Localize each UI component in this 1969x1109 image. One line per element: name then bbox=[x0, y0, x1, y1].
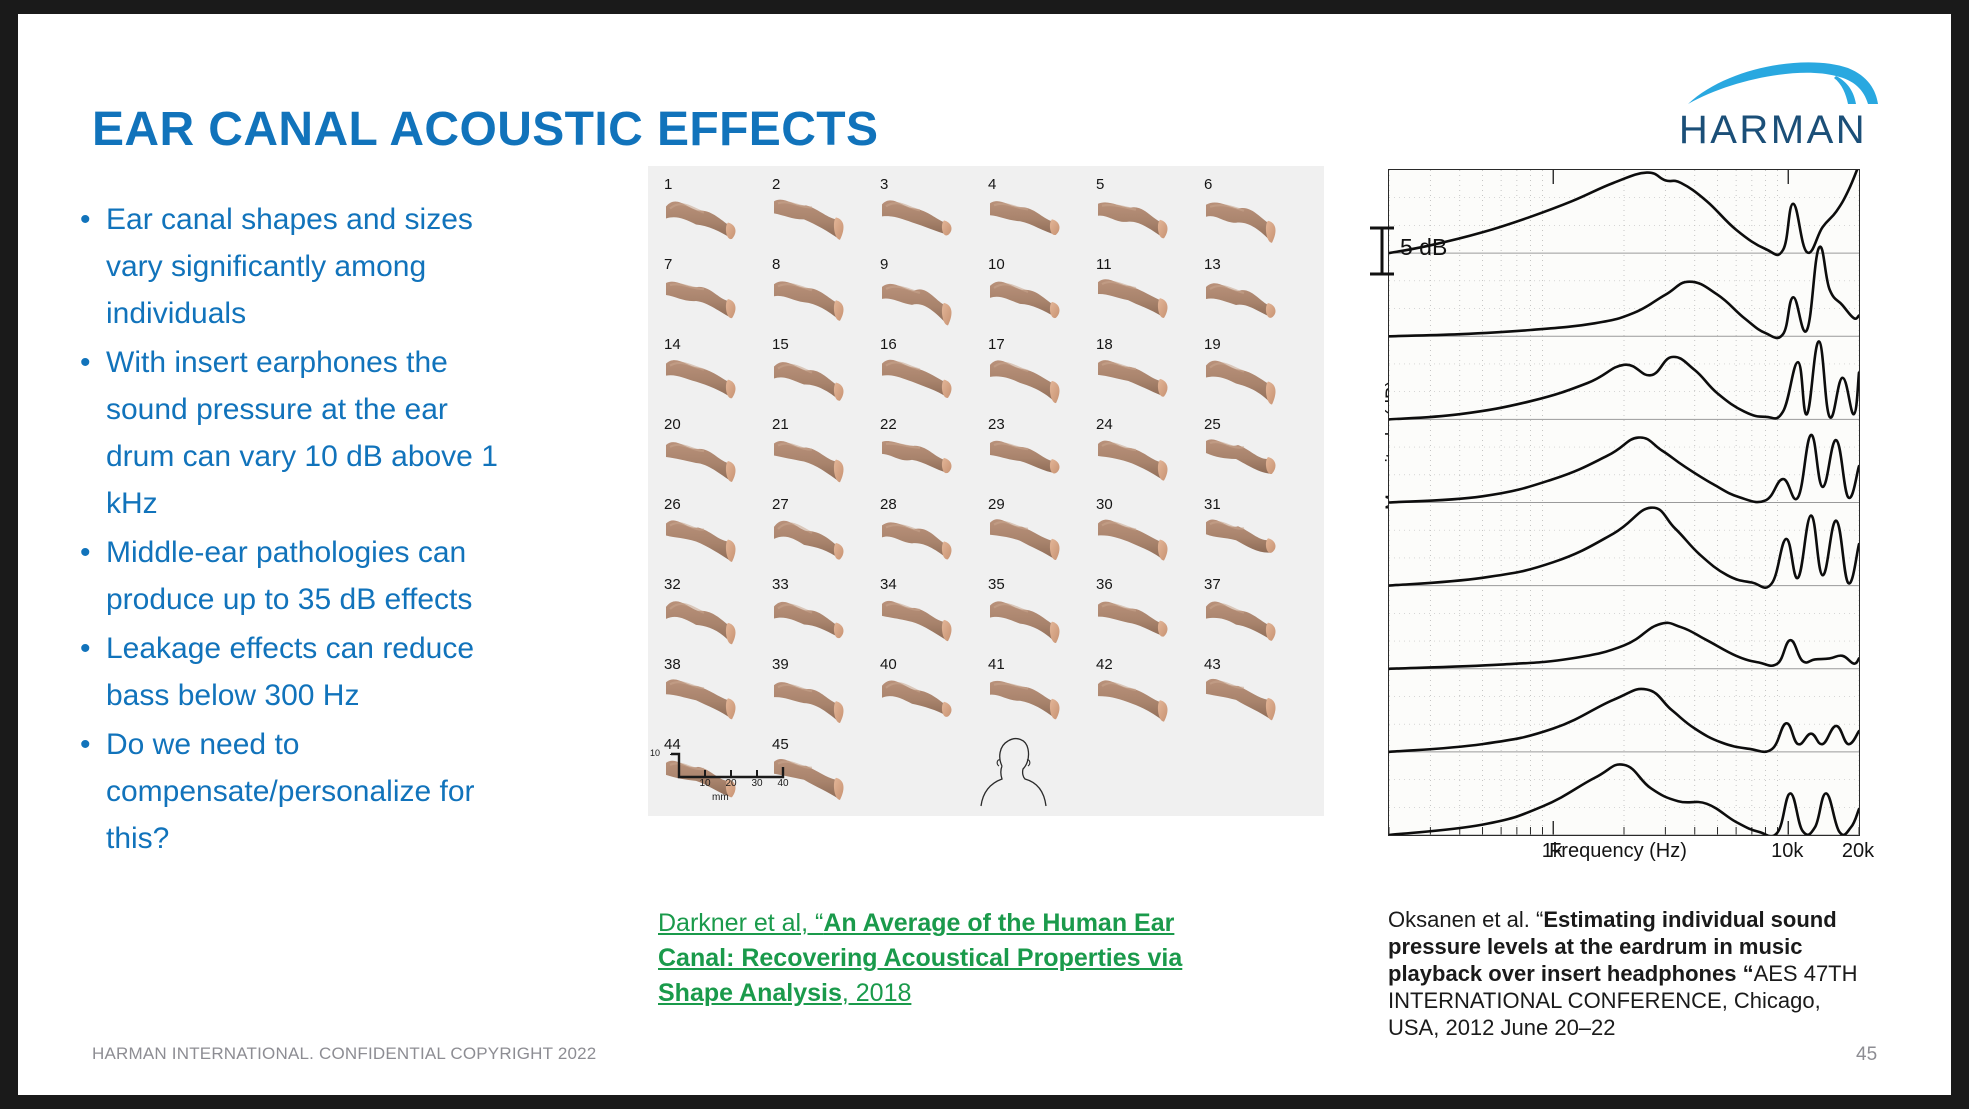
ear-canal-number: 33 bbox=[772, 576, 789, 593]
ear-canal-item: 21 bbox=[766, 416, 874, 496]
bullet-text: Middle-ear pathologies can produce up to… bbox=[106, 536, 472, 616]
bullet-text: Do we need to compensate/personalize for… bbox=[106, 728, 475, 855]
ear-canal-number: 9 bbox=[880, 256, 888, 273]
ear-canal-item: 28 bbox=[874, 496, 982, 576]
ear-canal-shape-icon bbox=[986, 192, 1082, 252]
ear-canal-shape-icon bbox=[986, 512, 1082, 572]
ear-canal-shape-icon bbox=[1094, 672, 1190, 732]
ear-canal-item: 16 bbox=[874, 336, 982, 416]
ear-canal-number: 34 bbox=[880, 576, 897, 593]
chart-x-tick-20k: 20k bbox=[1842, 840, 1874, 863]
harman-logo: HARMAN bbox=[1658, 52, 1888, 152]
ear-canal-item: 18 bbox=[1090, 336, 1198, 416]
bullet-item: • With insert earphones the sound pressu… bbox=[54, 339, 524, 527]
bullet-text: With insert earphones the sound pressure… bbox=[106, 346, 498, 520]
scale-bar: 10 10 20 30 40 mm bbox=[670, 752, 790, 806]
ear-canal-item: 25 bbox=[1198, 416, 1306, 496]
head-silhouette-icon bbox=[978, 736, 1048, 808]
ear-canal-item: 6 bbox=[1198, 176, 1306, 256]
ear-canal-item: 13 bbox=[1198, 256, 1306, 336]
ear-canal-number: 27 bbox=[772, 496, 789, 513]
scale-bar-x-label: 30 bbox=[751, 778, 762, 789]
chart-x-tick-10k: 10k bbox=[1771, 840, 1803, 863]
ear-canal-number: 32 bbox=[664, 576, 681, 593]
scale-bar-x-label: 20 bbox=[725, 778, 736, 789]
ear-canal-item: 8 bbox=[766, 256, 874, 336]
ear-canal-shape-icon bbox=[986, 592, 1082, 652]
ear-canal-item: 5 bbox=[1090, 176, 1198, 256]
ear-canal-number: 25 bbox=[1204, 416, 1221, 433]
frequency-response-chart: Magnitude (dB) 5 dB 1k Frequency (Hz) 10… bbox=[1348, 164, 1888, 874]
ear-canal-number: 35 bbox=[988, 576, 1005, 593]
ear-canal-number: 16 bbox=[880, 336, 897, 353]
scale-bar-x-label: 10 bbox=[699, 778, 710, 789]
ear-canal-shape-icon bbox=[770, 192, 866, 252]
ear-canal-row: 383940414243 bbox=[658, 656, 1306, 736]
bullet-dot-icon: • bbox=[80, 529, 91, 576]
ear-canal-number: 26 bbox=[664, 496, 681, 513]
bullet-item: • Leakage effects can reduce bass below … bbox=[54, 625, 524, 719]
ear-canal-item: 41 bbox=[982, 656, 1090, 736]
ear-canal-number: 30 bbox=[1096, 496, 1113, 513]
ear-canal-number: 38 bbox=[664, 656, 681, 673]
ear-canal-item: 31 bbox=[1198, 496, 1306, 576]
ear-canal-number: 23 bbox=[988, 416, 1005, 433]
ear-canal-shape-icon bbox=[986, 672, 1082, 732]
ear-canal-row: 789101113 bbox=[658, 256, 1306, 336]
ear-canal-item: 23 bbox=[982, 416, 1090, 496]
ear-canal-number: 2 bbox=[772, 176, 780, 193]
ear-canal-number: 36 bbox=[1096, 576, 1113, 593]
ear-canal-shape-icon bbox=[1094, 272, 1190, 332]
ear-canal-number: 7 bbox=[664, 256, 672, 273]
ear-canal-shape-icon bbox=[1202, 512, 1298, 572]
ear-canal-number: 5 bbox=[1096, 176, 1104, 193]
ear-canal-item: 3 bbox=[874, 176, 982, 256]
ear-canal-number: 22 bbox=[880, 416, 897, 433]
ear-canal-number: 43 bbox=[1204, 656, 1221, 673]
ear-canal-row: 202122232425 bbox=[658, 416, 1306, 496]
footer-confidentiality: HARMAN INTERNATIONAL. CONFIDENTIAL COPYR… bbox=[92, 1044, 596, 1064]
ear-canal-shape-icon bbox=[1202, 672, 1298, 732]
ear-canal-row: 141516171819 bbox=[658, 336, 1306, 416]
bullet-item: • Do we need to compensate/personalize f… bbox=[54, 721, 524, 862]
ear-canal-number: 20 bbox=[664, 416, 681, 433]
ear-canal-item: 40 bbox=[874, 656, 982, 736]
ear-canal-shape-icon bbox=[1202, 192, 1298, 252]
ear-canal-shape-icon bbox=[986, 432, 1082, 492]
ear-canal-shape-icon bbox=[662, 352, 758, 412]
ear-canal-number: 13 bbox=[1204, 256, 1221, 273]
ear-canal-shape-icon bbox=[1094, 432, 1190, 492]
scale-bar-units: mm bbox=[712, 792, 729, 803]
ear-canal-shape-icon bbox=[1094, 512, 1190, 572]
ear-canal-figure: 1234567891011131415161718192021222324252… bbox=[648, 166, 1324, 816]
db-scale-label: 5 dB bbox=[1400, 234, 1447, 261]
bullet-text: Leakage effects can reduce bass below 30… bbox=[106, 632, 474, 712]
ear-canal-number: 37 bbox=[1204, 576, 1221, 593]
ear-canal-number: 1 bbox=[664, 176, 672, 193]
ear-canal-number: 14 bbox=[664, 336, 681, 353]
citation-oksanen: Oksanen et al. “Estimating individual so… bbox=[1388, 906, 1858, 1041]
ear-canal-shape-icon bbox=[878, 272, 974, 332]
ear-canal-item: 1 bbox=[658, 176, 766, 256]
db-scale-bar-icon bbox=[1366, 224, 1400, 282]
ear-canal-row: 262728293031 bbox=[658, 496, 1306, 576]
ear-canal-item: 34 bbox=[874, 576, 982, 656]
ear-canal-shape-icon bbox=[770, 592, 866, 652]
ear-canal-number: 6 bbox=[1204, 176, 1212, 193]
ear-canal-item: 2 bbox=[766, 176, 874, 256]
ear-canal-number: 19 bbox=[1204, 336, 1221, 353]
ear-canal-number: 44 bbox=[664, 736, 681, 753]
ear-canal-item: 19 bbox=[1198, 336, 1306, 416]
ear-canal-item: 11 bbox=[1090, 256, 1198, 336]
ear-canal-row: 123456 bbox=[658, 176, 1306, 256]
ear-canal-number: 11 bbox=[1096, 256, 1112, 273]
ear-canal-item: 30 bbox=[1090, 496, 1198, 576]
ear-canal-item: 32 bbox=[658, 576, 766, 656]
ear-canal-item: 22 bbox=[874, 416, 982, 496]
ear-canal-shape-icon bbox=[1094, 592, 1190, 652]
ear-canal-item: 36 bbox=[1090, 576, 1198, 656]
ear-canal-item: 15 bbox=[766, 336, 874, 416]
ear-canal-item: 14 bbox=[658, 336, 766, 416]
ear-canal-item: 43 bbox=[1198, 656, 1306, 736]
ear-canal-row: 323334353637 bbox=[658, 576, 1306, 656]
citation-prefix: Darkner et al, “ bbox=[658, 909, 823, 937]
bullet-item: • Middle-ear pathologies can produce up … bbox=[54, 529, 524, 623]
ear-canal-shape-icon bbox=[878, 432, 974, 492]
ear-canal-number: 17 bbox=[988, 336, 1005, 353]
page-number: 45 bbox=[1856, 1044, 1877, 1066]
ear-canal-shape-icon bbox=[770, 272, 866, 332]
ear-canal-number: 3 bbox=[880, 176, 888, 193]
ear-canal-item: 33 bbox=[766, 576, 874, 656]
ear-canal-number: 28 bbox=[880, 496, 897, 513]
ear-canal-number: 45 bbox=[772, 736, 789, 753]
ear-canal-item: 42 bbox=[1090, 656, 1198, 736]
ear-canal-shape-icon bbox=[1202, 352, 1298, 412]
ear-canal-item: 27 bbox=[766, 496, 874, 576]
ear-canal-number: 8 bbox=[772, 256, 780, 273]
scale-bar-x-label: 40 bbox=[777, 778, 788, 789]
chart-x-axis-label: Frequency (Hz) bbox=[1549, 840, 1687, 863]
ear-canal-item: 29 bbox=[982, 496, 1090, 576]
ear-canal-shape-icon bbox=[878, 512, 974, 572]
ear-canal-number: 4 bbox=[988, 176, 996, 193]
ear-canal-shape-icon bbox=[986, 272, 1082, 332]
ear-canal-number: 42 bbox=[1096, 656, 1113, 673]
bullet-dot-icon: • bbox=[80, 339, 91, 386]
ear-canal-number: 39 bbox=[772, 656, 789, 673]
ear-canal-grid: 1234567891011131415161718192021222324252… bbox=[658, 176, 1306, 816]
ear-canal-item: 39 bbox=[766, 656, 874, 736]
scale-bar-vertical-label: 10 bbox=[650, 748, 660, 758]
citation-prefix: Oksanen et al. “ bbox=[1388, 907, 1543, 932]
ear-canal-item: 17 bbox=[982, 336, 1090, 416]
ear-canal-item: 7 bbox=[658, 256, 766, 336]
ear-canal-shape-icon bbox=[770, 432, 866, 492]
ear-canal-number: 31 bbox=[1204, 496, 1221, 513]
ear-canal-item: 35 bbox=[982, 576, 1090, 656]
ear-canal-shape-icon bbox=[662, 672, 758, 732]
ear-canal-shape-icon bbox=[986, 352, 1082, 412]
ear-canal-number: 29 bbox=[988, 496, 1005, 513]
ear-canal-shape-icon bbox=[770, 672, 866, 732]
ear-canal-item: 20 bbox=[658, 416, 766, 496]
ear-canal-shape-icon bbox=[878, 192, 974, 252]
ear-canal-shape-icon bbox=[878, 352, 974, 412]
ear-canal-shape-icon bbox=[662, 432, 758, 492]
ear-canal-item: 9 bbox=[874, 256, 982, 336]
ear-canal-shape-icon bbox=[1202, 592, 1298, 652]
ear-canal-number: 18 bbox=[1096, 336, 1113, 353]
ear-canal-shape-icon bbox=[662, 512, 758, 572]
bullet-dot-icon: • bbox=[80, 625, 91, 672]
ear-canal-item: 24 bbox=[1090, 416, 1198, 496]
ear-canal-number: 10 bbox=[988, 256, 1005, 273]
ear-canal-number: 41 bbox=[988, 656, 1005, 673]
ear-canal-shape-icon bbox=[770, 512, 866, 572]
bullet-item: • Ear canal shapes and sizes vary signif… bbox=[54, 196, 524, 337]
ear-canal-item: 38 bbox=[658, 656, 766, 736]
ear-canal-shape-icon bbox=[662, 592, 758, 652]
ear-canal-shape-icon bbox=[878, 672, 974, 732]
citation-darkner[interactable]: Darkner et al, “An Average of the Human … bbox=[658, 906, 1238, 1011]
ear-canal-number: 15 bbox=[772, 336, 789, 353]
page-title: EAR CANAL ACOUSTIC EFFECTS bbox=[92, 102, 878, 157]
harman-wordmark: HARMAN bbox=[1658, 108, 1888, 153]
ear-canal-item: 37 bbox=[1198, 576, 1306, 656]
bullet-text: Ear canal shapes and sizes vary signific… bbox=[106, 203, 473, 330]
slide-canvas: EAR CANAL ACOUSTIC EFFECTS HARMAN • Ear … bbox=[18, 14, 1951, 1095]
ear-canal-number: 40 bbox=[880, 656, 897, 673]
ear-canal-shape-icon bbox=[662, 272, 758, 332]
bullet-list: • Ear canal shapes and sizes vary signif… bbox=[54, 196, 524, 864]
ear-canal-number: 24 bbox=[1096, 416, 1113, 433]
ear-canal-shape-icon bbox=[770, 352, 866, 412]
ear-canal-shape-icon bbox=[878, 592, 974, 652]
ear-canal-shape-icon bbox=[1202, 432, 1298, 492]
chart-db-scale-annotation: 5 dB bbox=[1366, 222, 1476, 282]
ear-canal-number: 21 bbox=[772, 416, 789, 433]
bullet-dot-icon: • bbox=[80, 196, 91, 243]
citation-year: , 2018 bbox=[842, 979, 912, 1007]
ear-canal-shape-icon bbox=[1202, 272, 1298, 332]
bullet-dot-icon: • bbox=[80, 721, 91, 768]
harman-swoosh-icon bbox=[1658, 52, 1888, 112]
ear-canal-item: 26 bbox=[658, 496, 766, 576]
ear-canal-item: 4 bbox=[982, 176, 1090, 256]
ear-canal-shape-icon bbox=[1094, 352, 1190, 412]
ear-canal-item: 10 bbox=[982, 256, 1090, 336]
ear-canal-shape-icon bbox=[1094, 192, 1190, 252]
ear-canal-shape-icon bbox=[662, 192, 758, 252]
